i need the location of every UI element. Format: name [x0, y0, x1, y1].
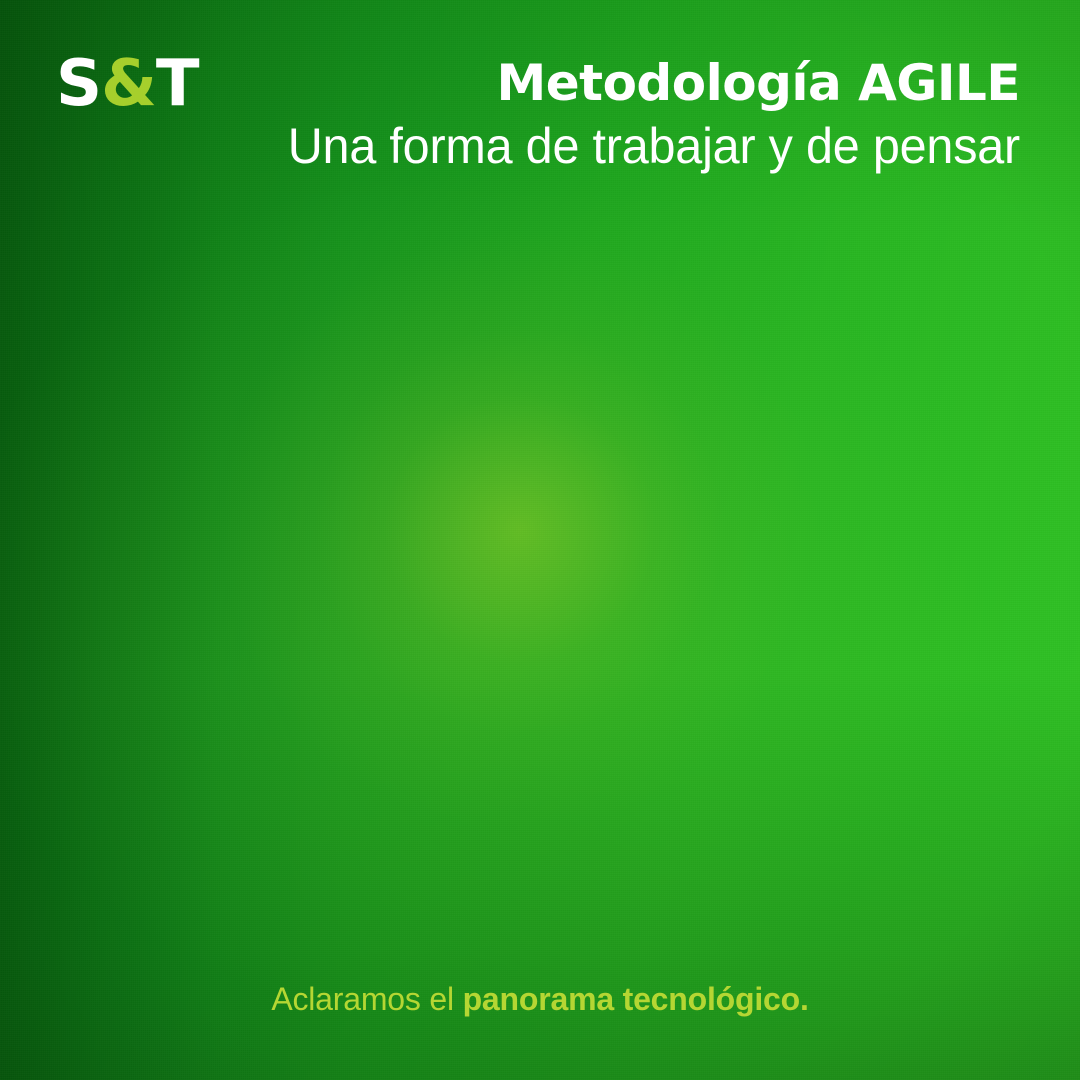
card-content: S&T Metodología AGILE Una forma de traba…: [0, 0, 1080, 1080]
tagline-bold-text: panorama tecnológico.: [463, 981, 809, 1017]
brand-logo-ampersand: &: [101, 47, 156, 121]
brand-logo-letter-t: T: [156, 47, 199, 121]
brand-tagline: Aclaramos el panorama tecnológico.: [0, 980, 1080, 1018]
heading-block: Metodología AGILE Una forma de trabajar …: [220, 52, 1020, 176]
page-title: Metodología AGILE: [220, 52, 1020, 114]
brand-logo[interactable]: S&T: [56, 50, 199, 118]
page-subtitle: Una forma de trabajar y de pensar: [244, 116, 1020, 176]
social-card-canvas: S&T Metodología AGILE Una forma de traba…: [0, 0, 1080, 1080]
tagline-light-text: Aclaramos el: [271, 981, 462, 1017]
brand-logo-letter-s: S: [56, 47, 101, 121]
